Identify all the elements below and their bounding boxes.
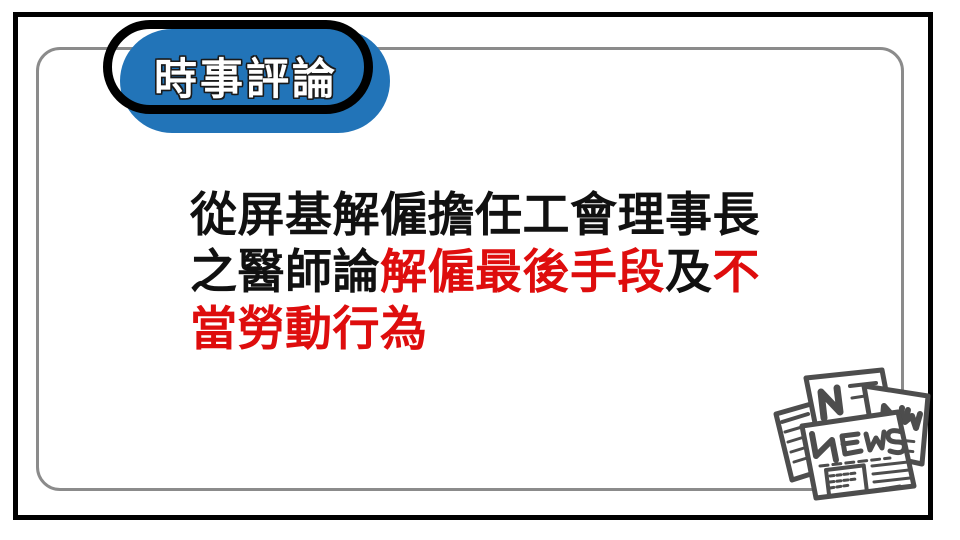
badge-label: 時事評論 — [100, 24, 392, 128]
newspaper-stack-icon — [772, 362, 940, 502]
headline-segment: 及 — [665, 245, 713, 298]
headline-line-2: 之醫師論解僱最後手段及不 — [190, 243, 810, 300]
headline-block: 從屏基解僱擔任工會理事長 之醫師論解僱最後手段及不 當勞動行為 — [190, 186, 810, 357]
headline-line-3: 當勞動行為 — [190, 300, 810, 357]
headline-segment-accent: 當勞動行為 — [190, 302, 428, 355]
category-badge: 時事評論 — [100, 16, 400, 140]
headline-segment-accent: 解僱最後手段 — [380, 245, 665, 298]
headline-segment-accent: 不 — [713, 245, 761, 298]
slide-canvas: 時事評論 從屏基解僱擔任工會理事長 之醫師論解僱最後手段及不 當勞動行為 — [0, 0, 960, 540]
newspaper-stack-glyph — [772, 362, 940, 502]
headline-segment: 之醫師論 — [190, 245, 380, 298]
headline-segment: 從屏基解僱擔任工會理事長 — [190, 188, 760, 241]
headline-line-1: 從屏基解僱擔任工會理事長 — [190, 186, 810, 243]
